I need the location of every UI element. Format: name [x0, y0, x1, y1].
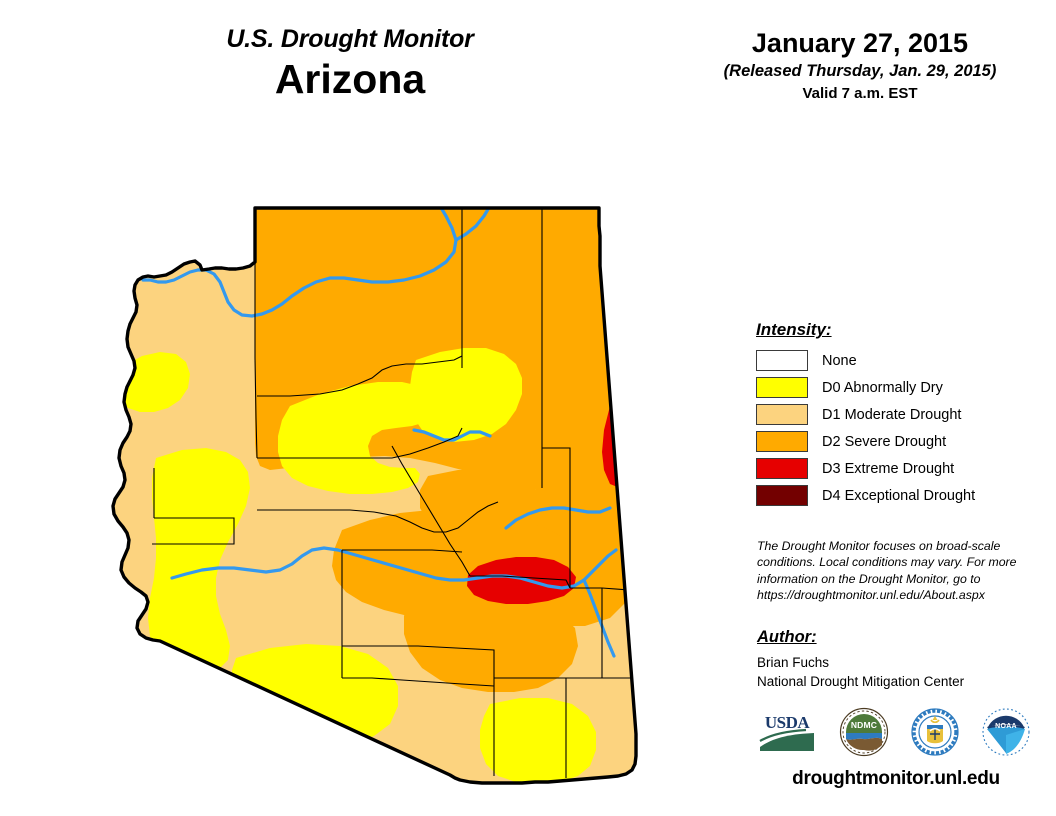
- disclaimer-url[interactable]: https://droughtmonitor.unl.edu/About.asp…: [757, 587, 1037, 603]
- disclaimer-line-2: conditions. Local conditions may vary. F…: [757, 554, 1037, 570]
- legend-item-d3: D3 Extreme Drought: [756, 455, 1026, 482]
- legend-item-d2: D2 Severe Drought: [756, 428, 1026, 455]
- legend-swatch-d3: [756, 458, 808, 479]
- svg-text:NOAA: NOAA: [995, 723, 1017, 730]
- legend-label-d0: D0 Abnormally Dry: [822, 380, 943, 396]
- site-url[interactable]: droughtmonitor.unl.edu: [756, 768, 1036, 790]
- legend-item-d4: D4 Exceptional Drought: [756, 482, 1026, 509]
- page-title: U.S. Drought Monitor: [140, 26, 560, 54]
- arizona-drought-map: [110, 158, 670, 788]
- legend-item-d0: D0 Abnormally Dry: [756, 374, 1026, 401]
- title-block: U.S. Drought Monitor Arizona: [140, 26, 560, 103]
- region-d0-south-lower: [232, 644, 398, 748]
- usda-logo: USDA: [756, 709, 818, 760]
- author-name: Brian Fuchs: [757, 654, 1037, 673]
- legend-swatch-d4: [756, 485, 808, 506]
- legend-label-d2: D2 Severe Drought: [822, 434, 946, 450]
- legend-swatch-d0: [756, 377, 808, 398]
- author-block: Author: Brian Fuchs National Drought Mit…: [757, 628, 1037, 691]
- legend-swatch-d2: [756, 431, 808, 452]
- legend-swatch-none: [756, 350, 808, 371]
- legend-item-none: None: [756, 347, 1026, 374]
- state-title: Arizona: [140, 56, 560, 103]
- region-d0-south-border: [480, 698, 596, 784]
- author-organization: National Drought Mitigation Center: [757, 673, 1037, 692]
- legend-label-d3: D3 Extreme Drought: [822, 461, 954, 477]
- legend-heading: Intensity:: [756, 320, 1026, 340]
- noaa-logo: NOAA: [981, 707, 1031, 762]
- usdc-seal-logo: [910, 707, 960, 762]
- map-date: January 27, 2015: [690, 28, 1030, 59]
- valid-time: Valid 7 a.m. EST: [690, 85, 1030, 103]
- logo-row: USDA NDMC: [756, 705, 1031, 763]
- author-heading: Author:: [757, 628, 1037, 647]
- legend-label-d1: D1 Moderate Drought: [822, 407, 961, 423]
- ndmc-logo: NDMC: [839, 707, 889, 762]
- disclaimer-line-1: The Drought Monitor focuses on broad-sca…: [757, 538, 1037, 554]
- drought-fill-layers: [110, 158, 670, 788]
- disclaimer-text: The Drought Monitor focuses on broad-sca…: [757, 538, 1037, 603]
- legend-label-none: None: [822, 353, 857, 369]
- disclaimer-line-3: information on the Drought Monitor, go t…: [757, 571, 1037, 587]
- svg-text:NDMC: NDMC: [851, 720, 877, 730]
- release-date: (Released Thursday, Jan. 29, 2015): [690, 62, 1030, 82]
- intensity-legend: Intensity: None D0 Abnormally Dry D1 Mod…: [756, 320, 1026, 509]
- legend-swatch-d1: [756, 404, 808, 425]
- legend-item-d1: D1 Moderate Drought: [756, 401, 1026, 428]
- region-d3-northeast: [602, 196, 655, 488]
- date-block: January 27, 2015 (Released Thursday, Jan…: [690, 28, 1030, 103]
- legend-label-d4: D4 Exceptional Drought: [822, 488, 975, 504]
